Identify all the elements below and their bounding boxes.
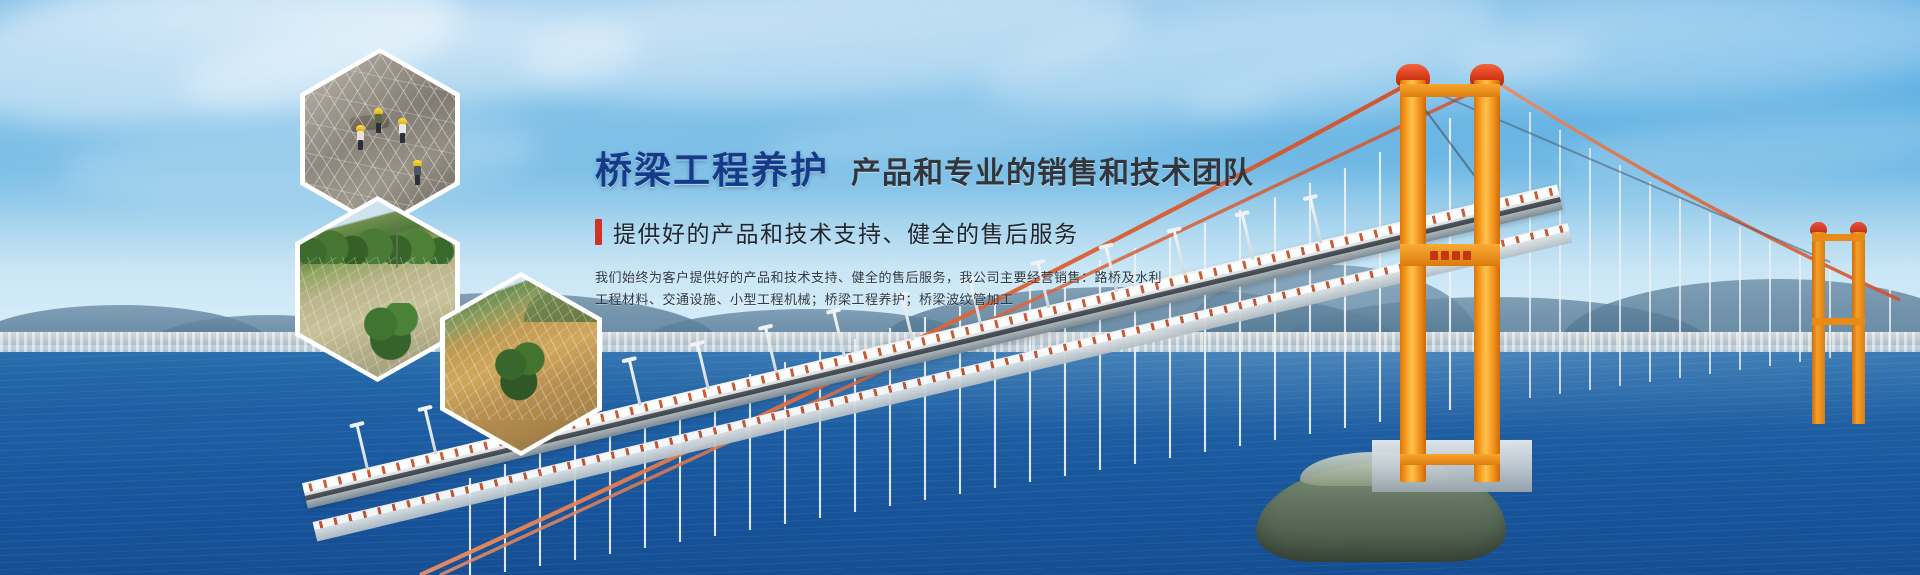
photo-rock-slope-mesh (445, 277, 597, 451)
banner-text-block: 桥梁工程养护 产品和专业的销售和技术团队 提供好的产品和技术支持、健全的售后服务… (595, 140, 1275, 312)
photo-hex-rock-slope-mesh[interactable] (440, 272, 602, 456)
tower-crossbeam (1812, 234, 1865, 241)
description-block: 我们始终为客户提供好的产品和技术支持、健全的售后服务，我公司主要经营销售：路桥及… (595, 268, 1275, 312)
worker-legs (415, 175, 420, 185)
hex-frame (295, 196, 460, 382)
worker-legs (400, 133, 405, 143)
tower-crossbeam (1400, 454, 1500, 465)
bridge-tower-far (1810, 222, 1868, 422)
worker-figure (374, 108, 383, 132)
tower-name-sign (1418, 248, 1482, 262)
foreground-tree (491, 340, 549, 412)
photo-hex-vegetated-slope-protection[interactable] (295, 196, 460, 382)
subheadline-text: 提供好的产品和技术支持、健全的售后服务 (613, 215, 1079, 249)
worker-figure (356, 125, 365, 149)
tower-leg (1812, 232, 1825, 424)
sign-glyph (1463, 251, 1471, 260)
headline-primary: 桥梁工程养护 (595, 140, 829, 194)
description-line-2: 工程材料、交通设施、小型工程机械；桥梁工程养护；桥梁波纹管加工 (595, 290, 1275, 312)
hero-banner: 桥梁工程养护 产品和专业的销售和技术团队 提供好的产品和技术支持、健全的售后服务… (0, 0, 1920, 575)
worker-figure (398, 118, 407, 142)
tower-crossbeam (1812, 318, 1865, 325)
sign-glyph (1441, 251, 1449, 260)
worker-legs (358, 140, 363, 150)
hex-photo-clip (445, 277, 597, 451)
worker-legs (376, 123, 381, 133)
photo-vegetated-slope-protection (300, 201, 455, 377)
description-line-1: 我们始终为客户提供好的产品和技术支持、健全的售后服务，我公司主要经营销售：路桥及… (595, 268, 1275, 290)
sign-glyph (1430, 251, 1438, 260)
accent-bar (595, 219, 602, 245)
headline-secondary: 产品和专业的销售和技术团队 (851, 148, 1254, 192)
bridge-tower-main (1398, 62, 1510, 482)
tower-leg (1852, 232, 1865, 424)
worker-figure (413, 160, 422, 184)
tower-leg (1400, 80, 1426, 482)
hex-frame (440, 272, 602, 456)
tower-leg (1474, 80, 1500, 482)
tower-crossbeam (1400, 84, 1500, 97)
foreground-shrub (362, 303, 424, 373)
subheadline-row: 提供好的产品和技术支持、健全的售后服务 (595, 215, 1275, 249)
sign-glyph (1452, 251, 1460, 260)
headline-row: 桥梁工程养护 产品和专业的销售和技术团队 (595, 140, 1275, 194)
hex-photo-clip (300, 201, 455, 377)
